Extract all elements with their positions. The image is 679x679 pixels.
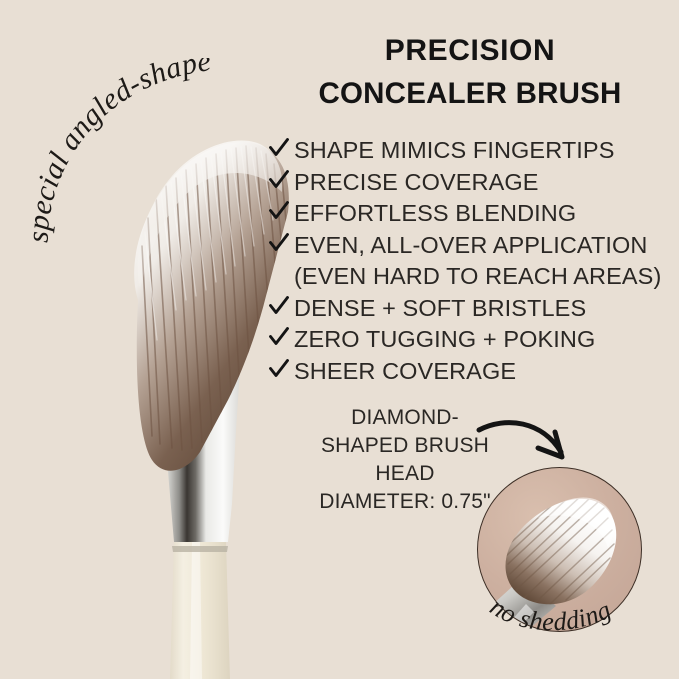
feature-label: PRECISE COVERAGE — [294, 169, 539, 196]
infographic-canvas: special angled-shape PRECISION CONCEALER… — [0, 0, 679, 679]
feature-item: SHAPE MIMICS FINGERTIPS — [268, 136, 679, 168]
inset-bristles — [505, 494, 616, 604]
inset-brush-illustration — [477, 467, 642, 632]
check-icon — [268, 295, 294, 317]
feature-item: DENSE + SOFT BRISTLES — [268, 294, 679, 326]
feature-label: DENSE + SOFT BRISTLES — [294, 295, 586, 322]
feature-item: SHEER COVERAGE — [268, 357, 679, 389]
feature-list: SHAPE MIMICS FINGERTIPS PRECISE COVERAGE… — [268, 136, 679, 388]
feature-item-continuation: (EVEN HARD TO REACH AREAS) — [268, 262, 679, 294]
check-icon — [268, 169, 294, 191]
check-icon — [268, 358, 294, 380]
feature-item: EFFORTLESS BLENDING — [268, 199, 679, 231]
feature-label: ZERO TUGGING + POKING — [294, 326, 595, 353]
feature-label: SHEER COVERAGE — [294, 358, 516, 385]
feature-item: EVEN, ALL-OVER APPLICATION — [268, 231, 679, 263]
product-title-line-1: PRECISION — [268, 30, 672, 73]
product-title-line-2: CONCEALER BRUSH — [268, 73, 672, 115]
feature-label: EVEN, ALL-OVER APPLICATION — [294, 232, 647, 259]
check-icon — [268, 232, 294, 254]
feature-item: ZERO TUGGING + POKING — [268, 325, 679, 357]
brush-head-inset — [477, 467, 642, 632]
check-icon — [268, 200, 294, 222]
feature-label: (EVEN HARD TO REACH AREAS) — [294, 263, 661, 290]
check-icon — [268, 137, 294, 159]
feature-item: PRECISE COVERAGE — [268, 168, 679, 200]
check-icon — [268, 326, 294, 348]
brush-bristles — [134, 141, 289, 471]
feature-label: SHAPE MIMICS FINGERTIPS — [294, 137, 614, 164]
product-title: PRECISION CONCEALER BRUSH — [268, 30, 672, 114]
feature-label: EFFORTLESS BLENDING — [294, 200, 576, 227]
